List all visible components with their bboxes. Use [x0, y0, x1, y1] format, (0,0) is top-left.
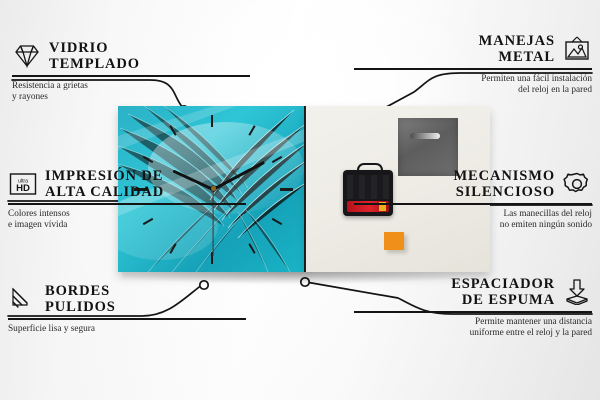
feature-title: ESPACIADOR DE ESPUMA: [451, 276, 555, 308]
feature-title: BORDES PULIDOS: [45, 283, 116, 315]
orange-foam-spacer: [384, 232, 404, 250]
feature-header: ultra HD IMPRESIÓN DE ALTA CALIDAD: [8, 168, 246, 200]
feature-title: VIDRIO TEMPLADO: [49, 40, 140, 72]
polished-edges-icon: [8, 286, 38, 312]
feature-caption: Permite mantener una distancia uniforme …: [354, 317, 592, 340]
feature-divider: [354, 311, 592, 313]
feature-caption: Colores intensos e imagen vívida: [8, 209, 246, 232]
feature-divider: [354, 203, 592, 205]
feature-impresion-alta-calidad: ultra HD IMPRESIÓN DE ALTA CALIDAD Color…: [8, 168, 246, 232]
feature-caption: Resistencia a grietas y rayones: [12, 81, 250, 104]
feature-divider: [8, 318, 246, 320]
feature-mecanismo-silencioso: MECANISMO SILENCIOSO Las manecillas del …: [354, 168, 592, 232]
feature-title: MECANISMO SILENCIOSO: [453, 168, 555, 200]
feature-caption: Permiten una fácil instalación del reloj…: [354, 74, 592, 97]
feature-header: MECANISMO SILENCIOSO: [354, 168, 592, 200]
feature-divider: [354, 68, 592, 70]
ultra-hd-icon: ultra HD: [8, 171, 38, 197]
feature-manejas-metal: MANEJAS METAL Permiten una fácil instala…: [354, 33, 592, 97]
feature-title: IMPRESIÓN DE ALTA CALIDAD: [45, 168, 164, 200]
clock-tick-3: [280, 188, 293, 191]
feature-title: MANEJAS METAL: [479, 33, 555, 65]
gear-icon: [562, 171, 592, 197]
feature-vidrio-templado: VIDRIO TEMPLADO Resistencia a grietas y …: [12, 40, 250, 104]
feature-espaciador-espuma: ESPACIADOR DE ESPUMA Permite mantener un…: [354, 276, 592, 340]
feature-header: BORDES PULIDOS: [8, 283, 246, 315]
feature-bordes-pulidos: BORDES PULIDOS Superficie lisa y segura: [8, 283, 246, 335]
feature-header: MANEJAS METAL: [354, 33, 592, 65]
picture-frame-icon: [562, 36, 592, 62]
feature-caption: Superficie lisa y segura: [8, 324, 246, 335]
infographic-canvas: VIDRIO TEMPLADO Resistencia a grietas y …: [0, 0, 600, 400]
feature-header: ESPACIADOR DE ESPUMA: [354, 276, 592, 308]
hanger-slot: [410, 133, 440, 139]
arrow-down-foam-icon: [562, 279, 592, 305]
feature-caption: Las manecillas del reloj no emiten ningú…: [354, 209, 592, 232]
diamond-icon: [12, 43, 42, 69]
svg-text:HD: HD: [16, 183, 30, 194]
feature-header: VIDRIO TEMPLADO: [12, 40, 250, 72]
feature-divider: [12, 75, 250, 77]
clock-tick-12: [211, 115, 213, 127]
feature-divider: [8, 203, 246, 205]
